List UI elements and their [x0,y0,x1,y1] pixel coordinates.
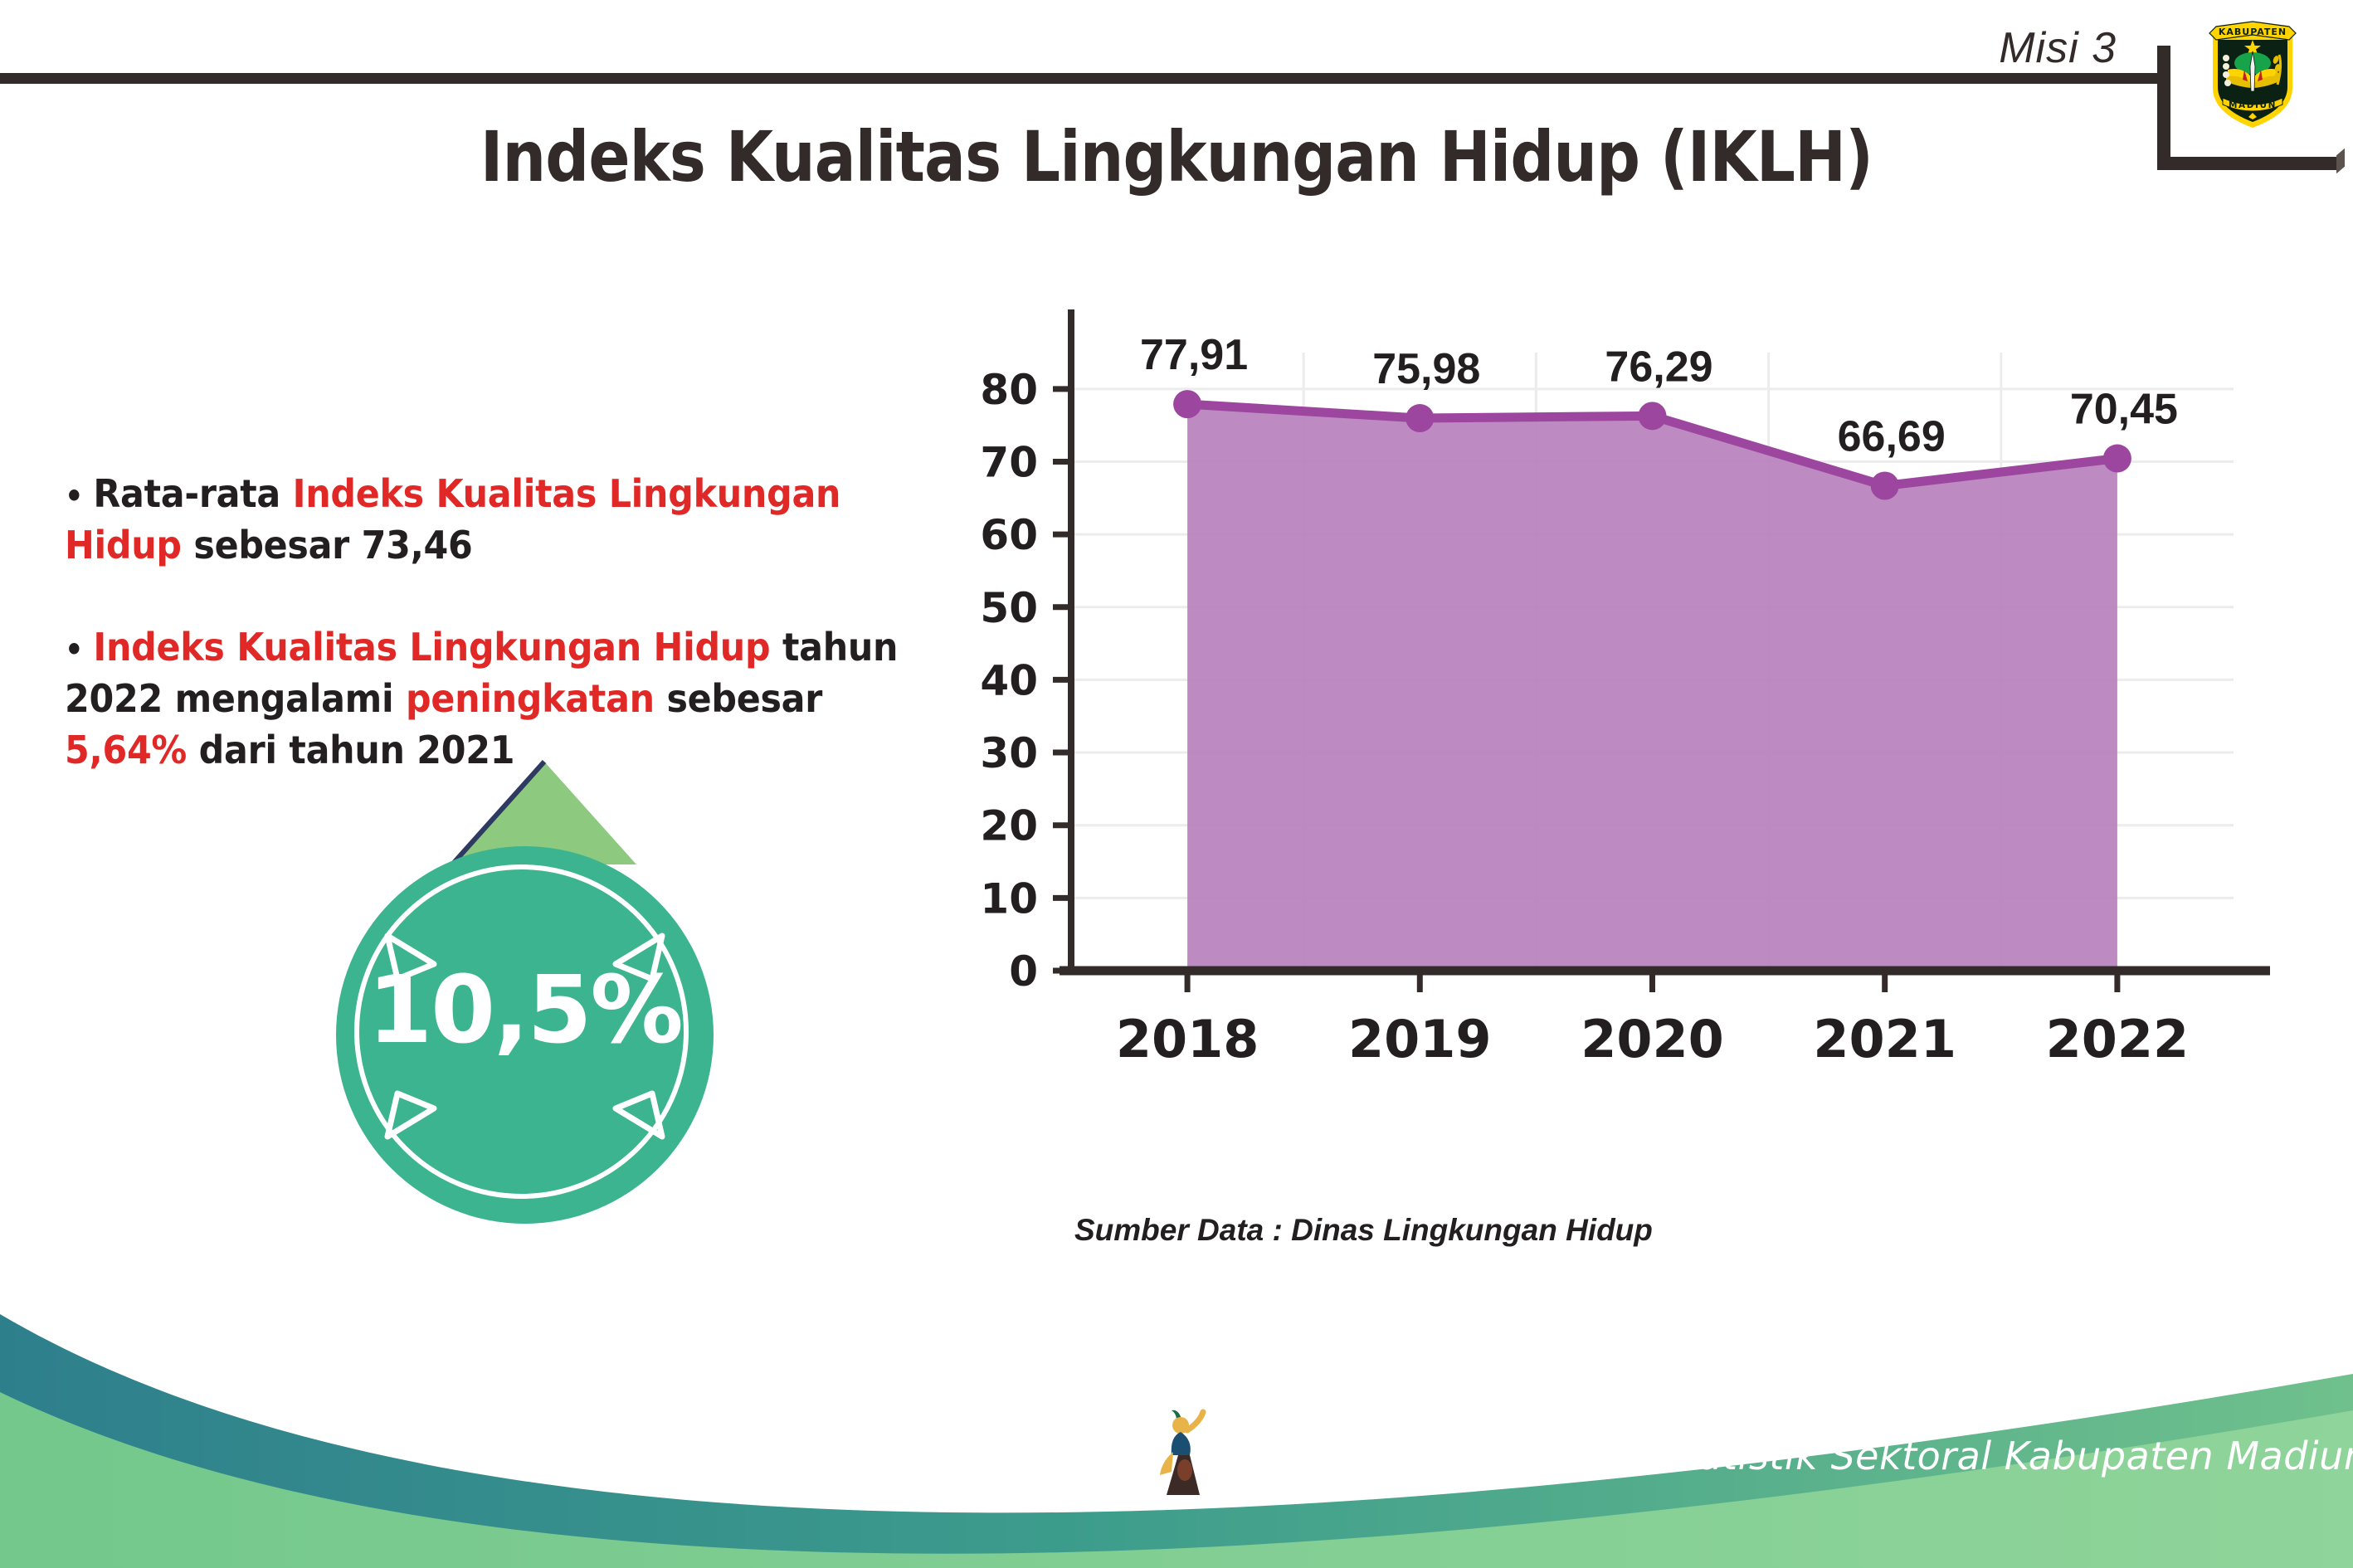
source-note: Sumber Data : Dinas Lingkungan Hidup [1074,1213,1653,1248]
footer-wave: Media Infografis Data Statistik Sektoral… [0,1294,2353,1568]
header-divider-line [0,73,2165,84]
iklh-area-chart: 010203040506070802018201920202021202277,… [979,299,2273,1170]
data-point-marker [1405,404,1434,432]
y-tick-label: 10 [980,874,1038,923]
data-point-marker [1173,390,1201,418]
y-tick-label: 70 [980,438,1038,486]
svg-text:KABUPATEN: KABUPATEN [2219,27,2287,37]
bullet-text: sebesar 73,46 [182,523,473,567]
y-tick-label: 30 [980,729,1038,777]
page-title: Indeks Kualitas Lingkungan Hidup (IKLH) [141,116,2212,197]
bullet-highlight-text: peningkatan [406,676,655,721]
badge-value: 10,5% [336,964,714,1057]
list-item: • Rata-rata Indeks Kualitas Lingkungan H… [65,469,898,571]
list-item: • Indeks Kualitas Lingkungan Hidup tahun… [65,622,898,776]
bullet-marker: • [65,478,93,514]
data-point-label: 66,69 [1838,412,1946,460]
data-point-label: 77,91 [1140,331,1248,379]
footer-caption: Media Infografis Data Statistik Sektoral… [1228,1434,2353,1478]
bullet-highlight-text: Indeks Kualitas Lingkungan Hidup [93,625,770,670]
bullet-marker: • [65,631,93,668]
increase-badge: 10,5% [328,757,759,1221]
data-point-marker [1639,402,1667,430]
media-infografis-figure-icon [1153,1404,1228,1503]
x-tick-label: 2018 [1116,1009,1259,1069]
y-tick-label: 40 [980,656,1038,704]
svg-text:MADIUN: MADIUN [2229,100,2277,110]
x-tick-label: 2021 [1813,1009,1956,1069]
bullet-text: sebesar [655,676,822,721]
data-point-label: 75,98 [1372,345,1480,393]
data-point-marker [2103,445,2131,473]
data-point-label: 70,45 [2070,386,2178,434]
infographic-slide: Misi 3 KABUPATEN [0,0,2353,1568]
y-tick-label: 20 [980,802,1038,850]
y-tick-label: 80 [980,366,1038,414]
x-tick-label: 2020 [1581,1009,1724,1069]
area-fill [1187,404,2117,971]
data-point-label: 76,29 [1605,343,1712,391]
x-tick-label: 2019 [1348,1009,1492,1069]
bullet-highlight-text: 5,64% [65,728,187,772]
bracket-end-bevel [2336,149,2345,173]
y-tick-label: 60 [980,511,1038,559]
data-point-marker [1871,471,1899,499]
y-tick-label: 0 [1009,947,1038,996]
x-tick-label: 2022 [2046,1009,2190,1069]
y-tick-label: 50 [980,584,1038,632]
misi-label: Misi 3 [1999,23,2117,73]
kabupaten-madiun-logo-icon: KABUPATEN [2203,15,2302,131]
bullet-text: Rata-rata [93,471,292,516]
